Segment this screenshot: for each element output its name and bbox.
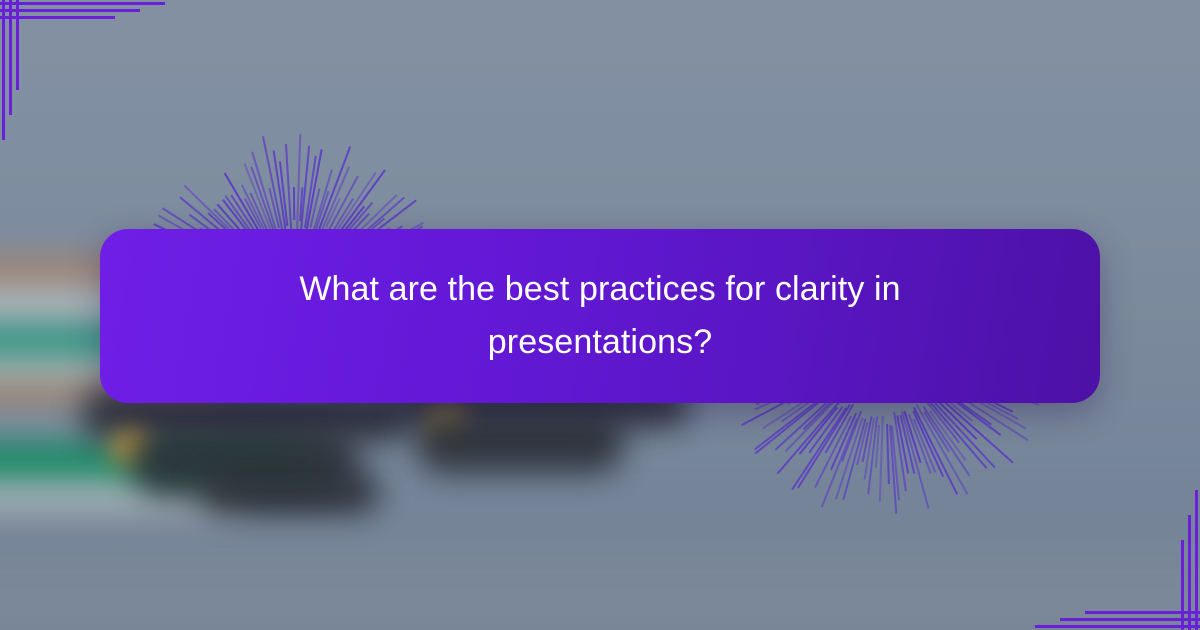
bracket-line-horizontal — [1060, 618, 1200, 621]
aircraft-silhouette — [415, 412, 625, 474]
social-card-canvas: What are the best practices for clarity … — [0, 0, 1200, 630]
question-text: What are the best practices for clarity … — [250, 263, 950, 368]
bracket-line-vertical — [16, 0, 19, 90]
bracket-line-vertical — [2, 0, 5, 140]
bracket-line-horizontal — [1035, 625, 1200, 628]
bracket-line-vertical — [1181, 540, 1184, 630]
bracket-line-horizontal — [0, 2, 165, 5]
ground-haze — [0, 505, 1200, 630]
bracket-line-horizontal — [0, 9, 140, 12]
bracket-line-vertical — [1195, 490, 1198, 630]
question-card: What are the best practices for clarity … — [100, 229, 1100, 403]
